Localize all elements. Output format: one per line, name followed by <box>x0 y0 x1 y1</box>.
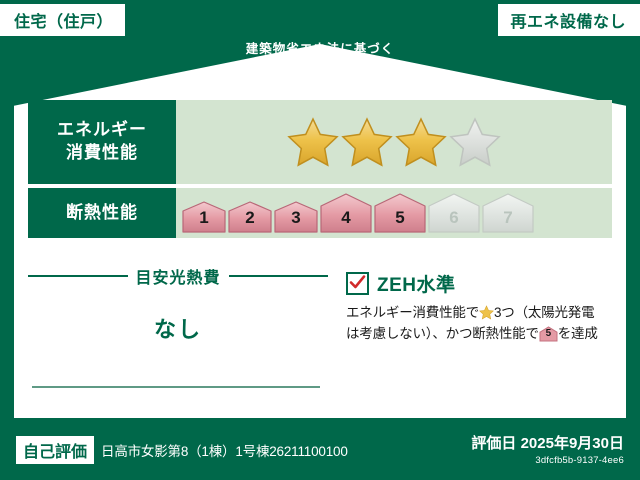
insulation-level-5: 5 <box>374 193 426 233</box>
cost-rule-right <box>229 275 329 277</box>
badge-renewable-energy: 再エネ設備なし <box>498 4 640 36</box>
cost-heading-text: 目安光熱費 <box>136 264 221 288</box>
insulation-performance-label: 断熱性能 <box>28 188 176 238</box>
energy-label-line2: 消費性能 <box>66 142 138 165</box>
zeh-desc-part1: エネルギー消費性能で <box>346 305 479 320</box>
property-address: 日高市女影第8（1棟）1号棟26211100100 <box>101 440 348 460</box>
insulation-label-text: 断熱性能 <box>66 202 138 225</box>
footer-right: 評価日 2025年9月30日 3dfcfb5b-9137-4ee6 <box>471 432 624 466</box>
insulation-level-4: 4 <box>320 193 372 233</box>
star-icon <box>479 305 494 320</box>
zeh-title: ZEH水準 <box>377 270 456 297</box>
energy-label-line1: エネルギー <box>57 119 147 142</box>
zeh-block: ZEH水準 エネルギー消費性能で3つ（太陽光発電は考慮しない）、かつ断熱性能で5… <box>328 260 612 412</box>
energy-performance-value <box>176 100 612 184</box>
cost-bottom-divider <box>32 386 320 388</box>
label-title: 建築物省エネ法に基づく 省エネ性能ラベル <box>0 38 640 94</box>
insulation-performance-value: 1234567 <box>176 188 612 238</box>
zeh-heading: ZEH水準 <box>346 270 612 297</box>
badge-building-type: 住宅（住戸） <box>0 4 125 36</box>
insulation-performance-row: 断熱性能 1234567 <box>28 188 612 238</box>
insulation-level-1: 1 <box>182 201 226 233</box>
star-empty-icon <box>449 116 501 168</box>
energy-label-root: 住宅（住戸） 再エネ設備なし 建築物省エネ法に基づく 省エネ性能ラベル エネルギ… <box>0 0 640 480</box>
insulation-level-3: 3 <box>274 201 318 233</box>
star-filled-icon <box>341 116 393 168</box>
insulation-badge-icon: 5 <box>539 326 558 342</box>
star-filled-icon <box>395 116 447 168</box>
label-content: エネルギー 消費性能 断熱性能 1234567 目安光熱費 <box>28 100 612 412</box>
title-subtitle: 建築物省エネ法に基づく <box>0 38 640 57</box>
utility-cost-block: 目安光熱費 なし <box>28 260 328 412</box>
evaluation-date: 評価日 2025年9月30日 <box>471 432 624 453</box>
insulation-level-6: 6 <box>428 193 480 233</box>
insulation-scale: 1234567 <box>176 193 534 233</box>
zeh-desc-part2: 3つ（太陽光発電 <box>494 305 594 320</box>
utility-cost-value: なし <box>28 312 328 344</box>
star-filled-icon <box>287 116 339 168</box>
footer-left: 自己評価 日高市女影第8（1棟）1号棟26211100100 <box>16 436 348 464</box>
insulation-level-2: 2 <box>228 201 272 233</box>
zeh-description: エネルギー消費性能で3つ（太陽光発電は考慮しない）、かつ断熱性能で5を達成 <box>346 303 612 345</box>
insulation-badge-value: 5 <box>539 326 558 342</box>
insulation-level-7: 7 <box>482 193 534 233</box>
lower-section: 目安光熱費 なし ZEH水準 エネルギー消費性能で3つ（太陽光発電は考慮しな <box>28 260 612 412</box>
zeh-desc-part3: を達成 <box>558 326 598 341</box>
star-rating <box>287 116 501 168</box>
label-footer: 自己評価 日高市女影第8（1棟）1号棟26211100100 評価日 2025年… <box>0 424 640 480</box>
utility-cost-heading: 目安光熱費 <box>28 264 328 288</box>
self-evaluation-badge: 自己評価 <box>16 436 94 464</box>
evaluation-hash: 3dfcfb5b-9137-4ee6 <box>471 455 624 466</box>
title-main: 省エネ性能ラベル <box>0 59 640 94</box>
check-icon <box>346 272 369 295</box>
energy-performance-row: エネルギー 消費性能 <box>28 100 612 184</box>
energy-performance-label: エネルギー 消費性能 <box>28 100 176 184</box>
zeh-desc-line2-part1: は考慮しない）、かつ断熱性能で <box>346 326 539 341</box>
cost-rule-left <box>28 275 128 277</box>
